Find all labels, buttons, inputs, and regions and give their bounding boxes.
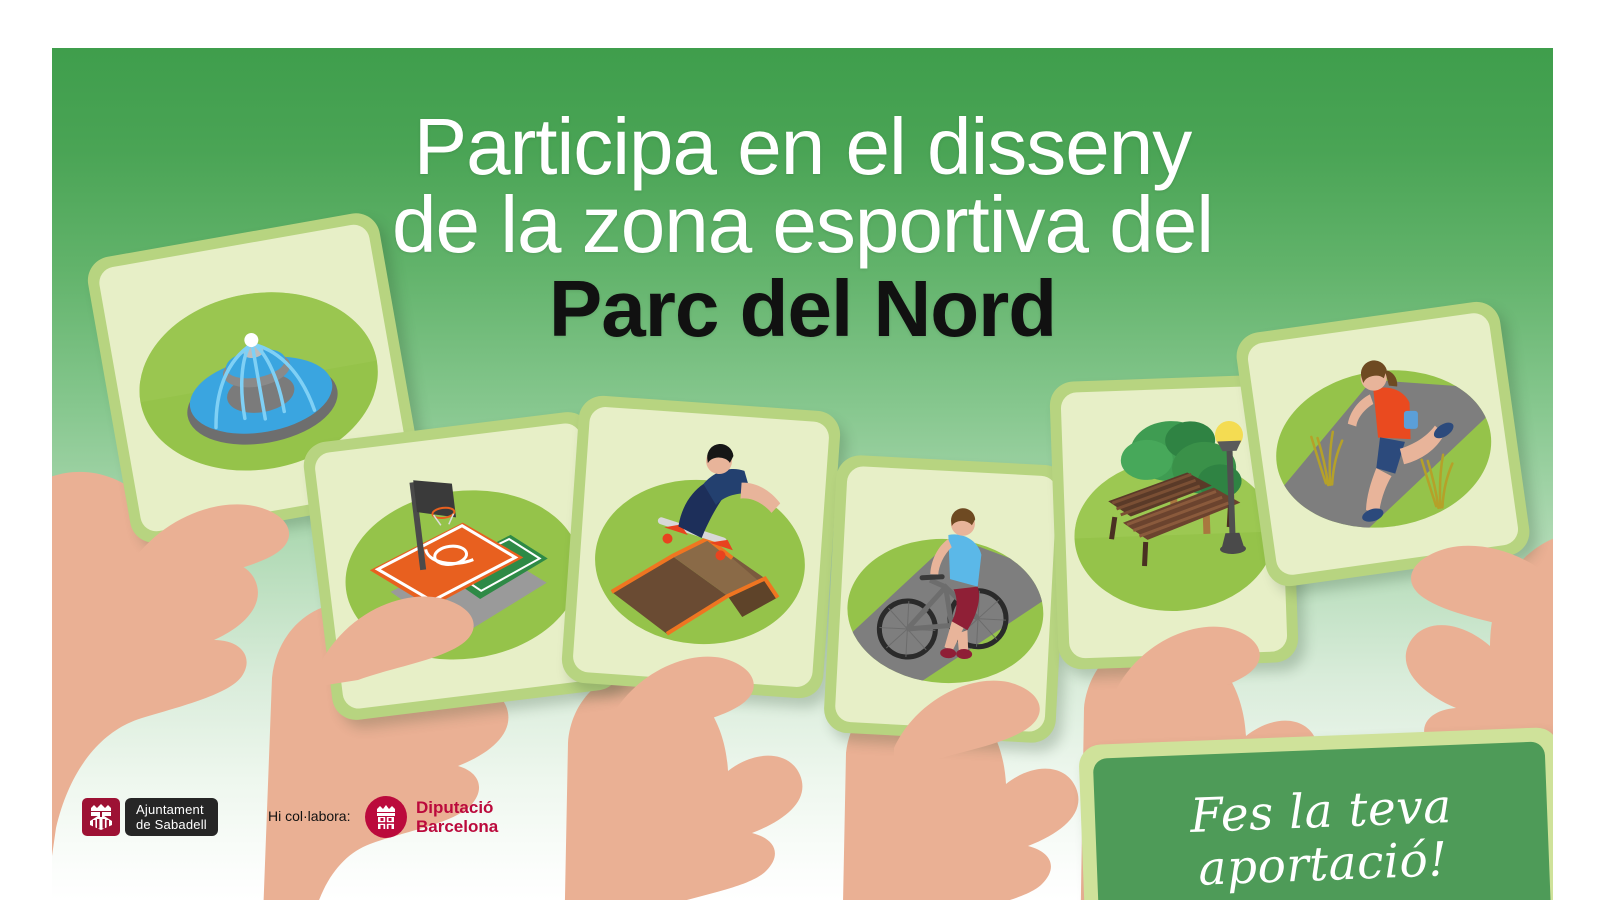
diputacio-line-1: Diputació <box>416 798 498 817</box>
finger-3 <box>608 624 788 744</box>
finger-2 <box>320 568 510 688</box>
sabadell-crest-icon <box>82 798 120 836</box>
title-line-2: de la zona esportiva del <box>52 186 1553 264</box>
page-title: Participa en el disseny de la zona espor… <box>52 108 1553 348</box>
title-highlight: Parc del Nord <box>52 270 1553 348</box>
title-line-1: Participa en el disseny <box>52 108 1553 186</box>
logo-diputacio-barcelona[interactable]: Diputació Barcelona <box>365 796 498 838</box>
logo-ajuntament-sabadell[interactable]: Ajuntament de Sabadell <box>82 798 218 836</box>
finger-left-outer <box>128 480 328 600</box>
finger-4 <box>894 648 1074 768</box>
sabadell-line-1: Ajuntament <box>136 802 207 817</box>
finger-right-outer <box>1362 518 1553 648</box>
collaborates-label: Hi col·labora: <box>268 808 350 824</box>
sabadell-line-2: de Sabadell <box>136 817 207 832</box>
diputacio-crest-icon <box>365 796 407 838</box>
footer-logos: Ajuntament de Sabadell Hi col·labora: <box>0 790 1600 860</box>
sabadell-name-box: Ajuntament de Sabadell <box>125 798 218 836</box>
diputacio-name: Diputació Barcelona <box>416 798 498 836</box>
diputacio-line-2: Barcelona <box>416 817 498 836</box>
poster-canvas: Participa en el disseny de la zona espor… <box>0 0 1600 900</box>
banner-background: Participa en el disseny de la zona espor… <box>52 48 1553 900</box>
finger-5 <box>1114 594 1294 714</box>
